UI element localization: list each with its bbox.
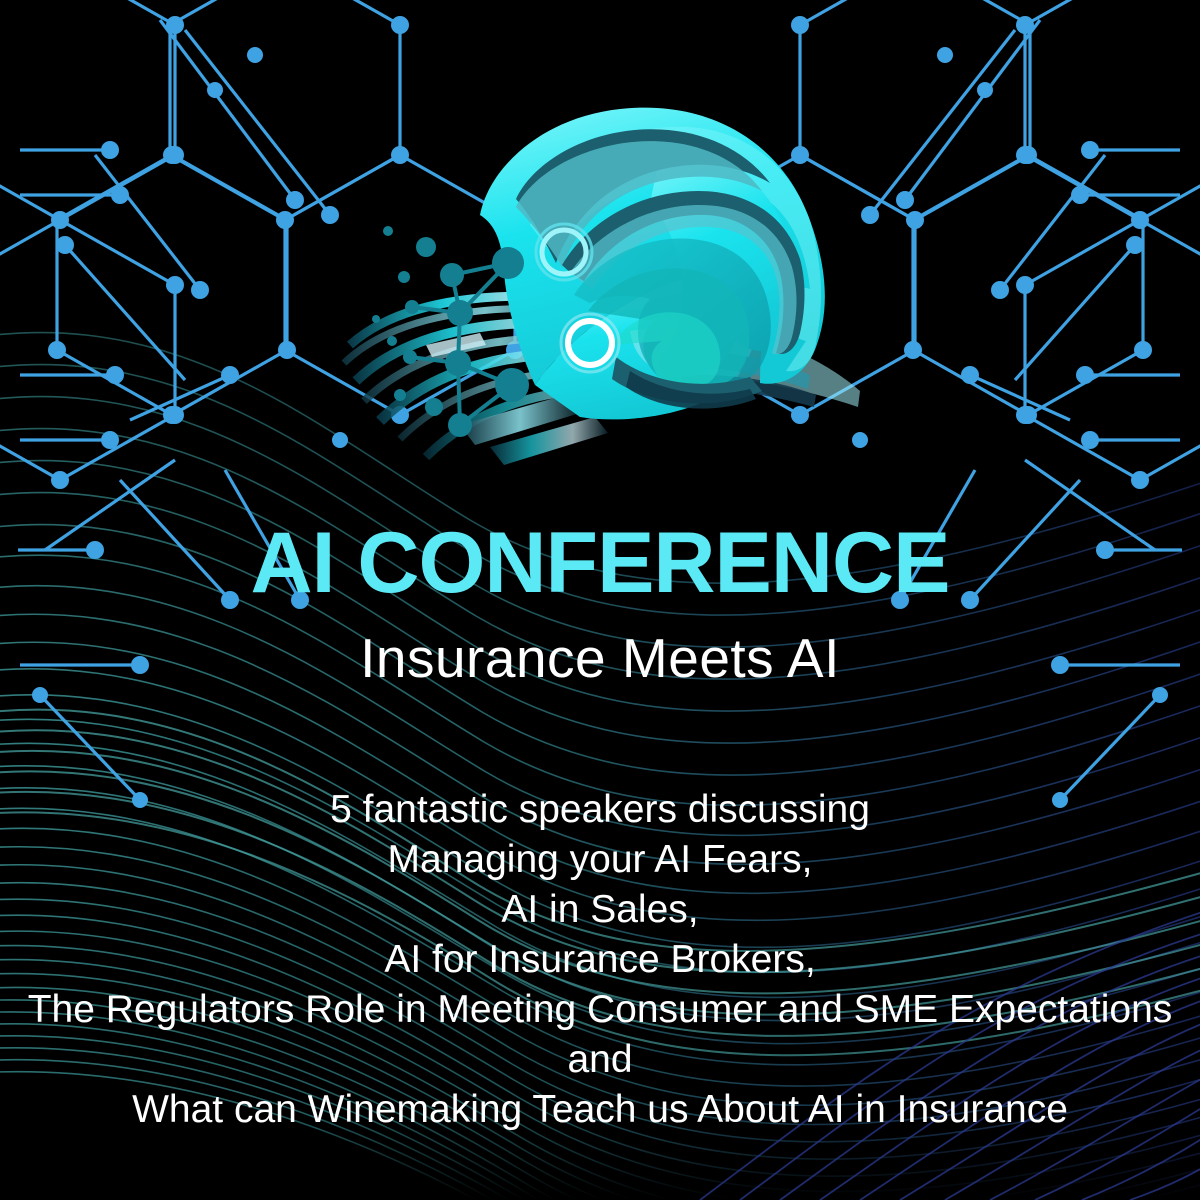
ai-conference-poster: AI CONFERENCE Insurance Meets AI 5 fanta…: [0, 0, 1200, 1200]
title-block: AI CONFERENCE Insurance Meets AI: [0, 520, 1200, 688]
list-item: What can Winemaking Teach us About AI in…: [0, 1085, 1200, 1135]
ai-head-profile-logo: [330, 95, 870, 495]
list-item: 5 fantastic speakers discussing: [0, 785, 1200, 835]
page-subtitle: Insurance Meets AI: [0, 628, 1200, 689]
list-item: Managing your AI Fears,: [0, 835, 1200, 885]
list-item: The Regulators Role in Meeting Consumer …: [0, 985, 1200, 1035]
session-list: 5 fantastic speakers discussing Managing…: [0, 785, 1200, 1135]
page-title: AI CONFERENCE: [0, 520, 1200, 608]
list-item: AI for Insurance Brokers,: [0, 935, 1200, 985]
list-item: and: [0, 1035, 1200, 1085]
list-item: AI in Sales,: [0, 885, 1200, 935]
